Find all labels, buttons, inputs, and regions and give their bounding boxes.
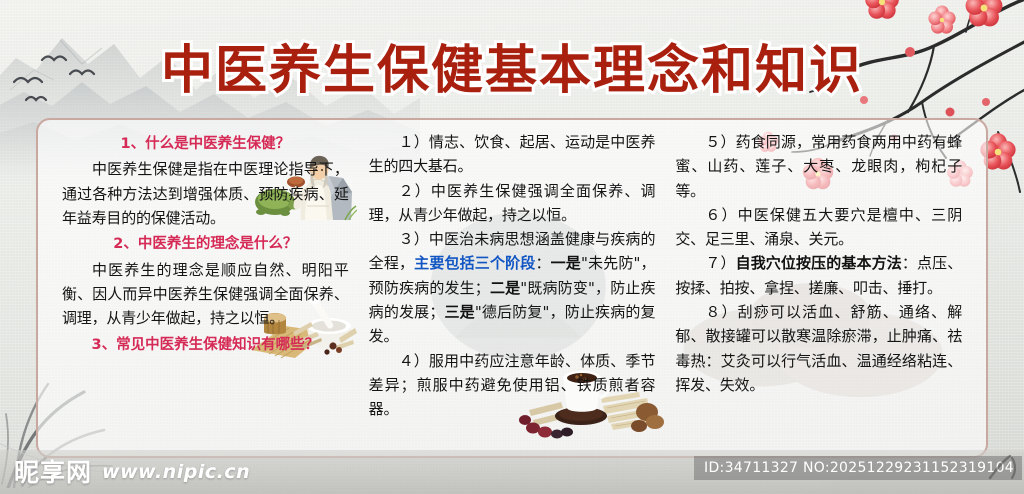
content-column-right: ５）药食同源，常用药食两用中药有蜂蜜、山药、莲子、大枣、龙眼肉，枸杞子等。 ６）… <box>665 130 972 448</box>
item3-stage-three-label: 三是 <box>444 303 475 321</box>
list-item-5: ５）药食同源，常用药食两用中药有蜂蜜、山药、莲子、大枣、龙眼肉，枸杞子等。 <box>675 130 962 203</box>
nipic-logo: 昵享网 <box>14 460 92 485</box>
list-item-8: ８）刮痧可以活血、舒筋、通络、解郁、散接罐可以散寒温除瘀滞，止肿痛、祛毒热：艾灸… <box>675 300 962 397</box>
watermark-bar: 昵享网 www.nipic.cn ID:34711327 NO:20251229… <box>0 450 1024 494</box>
poster-title-wrap: 中医养生保健基本理念和知识 <box>0 44 1024 99</box>
content-column-left: 1、什么是中医养生保健？ 中医养生保健是指在中医理论指导下，通过各种方法达到增强… <box>52 130 359 448</box>
list-item-4: ４）服用中药应注意年龄、体质、季节差异；煎服中药避免使用铝、铁质煎者容器。 <box>369 349 656 422</box>
section-heading-2: 2、中医养生的理念是什么？ <box>62 233 349 256</box>
content-column-middle: １）情志、饮食、起居、运动是中医养生的四大基石。 ２）中医养生保健强调全面保养、… <box>359 130 666 448</box>
watermark-url: www.nipic.cn <box>102 461 250 483</box>
list-item-2: ２）中医养生保健强调全面保养、调理，从青少年做起，持之以恒。 <box>369 179 656 228</box>
item3-part-b: ： <box>535 254 550 272</box>
item7-number: ７） <box>705 254 735 272</box>
item3-stage-one-label: 一是 <box>551 254 581 272</box>
section-heading-1: 1、什么是中医养生保健？ <box>62 133 349 156</box>
section-heading-3: 3、常见中医养生保健知识有哪些？ <box>62 334 349 357</box>
watermark-id-badge: ID:34711327 NO:20251229231152319104 <box>694 456 1022 480</box>
page-title: 中医养生保健基本理念和知识 <box>161 44 863 99</box>
list-item-3: ３）中医治未病思想涵盖健康与疾病的全程，主要包括三个阶段：一是"未先防"，预防疾… <box>369 227 656 348</box>
list-item-7: ７）自我穴位按压的基本方法：点压、按揉、拍按、拿捏、搓廉、叩击、捶打。 <box>675 251 962 300</box>
list-item-1: １）情志、饮食、起居、运动是中医养生的四大基石。 <box>369 130 656 179</box>
item3-highlight-stages: 主要包括三个阶段 <box>414 254 535 272</box>
item7-highlight-method: 自我穴位按压的基本方法 <box>736 254 902 272</box>
poster-root: 中医养生保健基本理念和知识 <box>0 0 1024 494</box>
flying-birds-icon <box>8 38 118 108</box>
content-panel: 1、什么是中医养生保健？ 中医养生保健是指在中医理论指导下，通过各种方法达到增强… <box>36 118 988 458</box>
item3-stage-two-label: 二是 <box>490 279 521 297</box>
paragraph-2: 中医养生的理念是顺应自然、明阳平衡、因人而异中医养生保健强调全面保养、调理，从青… <box>62 258 349 331</box>
paragraph-1: 中医养生保健是指在中医理论指导下，通过各种方法达到增强体质、预防疾病、延年益寿目… <box>62 157 349 230</box>
watermark-left: 昵享网 www.nipic.cn <box>14 460 250 485</box>
list-item-6: ６）中医保健五大要穴是檀中、三阴交、足三里、涌泉、关元。 <box>675 203 962 252</box>
